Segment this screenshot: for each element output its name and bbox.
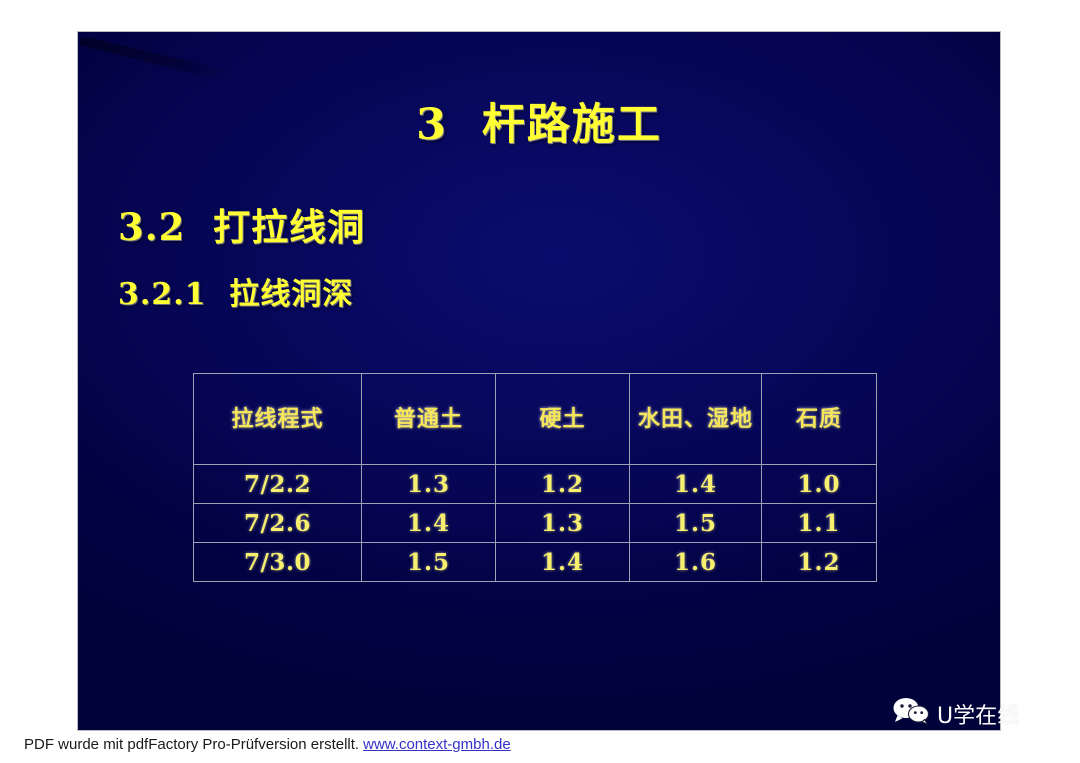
pdf-footer-text: PDF wurde mit pdfFactory Pro-Prüfversion… (24, 736, 359, 753)
table-cell: 1.4 (362, 504, 496, 543)
decorative-diagonal-streak (80, 38, 290, 92)
anchor-hole-depth-table: 拉线程式 普通土 硬土 水田、湿地 石质 7/2.2 1.3 1.2 1.4 1… (193, 373, 877, 582)
table-cell: 1.5 (362, 543, 496, 582)
table-header-cell: 石质 (762, 374, 877, 465)
slide-canvas: 3 杆路施工 3.2 打拉线洞 3.2.1 拉线洞深 拉线程式 普通土 硬土 水… (78, 32, 1000, 730)
table-cell: 1.2 (496, 465, 630, 504)
table-header-cell: 拉线程式 (194, 374, 362, 465)
table-header-cell: 硬土 (496, 374, 630, 465)
table-cell: 7/2.6 (194, 504, 362, 543)
table-header-row: 拉线程式 普通土 硬土 水田、湿地 石质 (194, 374, 877, 465)
table-header-cell: 普通土 (362, 374, 496, 465)
table-cell: 1.5 (630, 504, 762, 543)
table-cell: 7/3.0 (194, 543, 362, 582)
table-cell: 1.3 (496, 504, 630, 543)
table-header-cell: 水田、湿地 (630, 374, 762, 465)
page-title: 3 杆路施工 (78, 90, 1000, 152)
table-cell: 1.6 (630, 543, 762, 582)
table-cell: 1.1 (762, 504, 877, 543)
table-row: 7/3.0 1.5 1.4 1.6 1.2 (194, 543, 877, 582)
table-cell: 1.4 (496, 543, 630, 582)
pdf-footer-notice: PDF wurde mit pdfFactory Pro-Prüfversion… (24, 736, 511, 753)
table-row: 7/2.2 1.3 1.2 1.4 1.0 (194, 465, 877, 504)
table-cell: 7/2.2 (194, 465, 362, 504)
section-heading: 3.2 打拉线洞 (118, 197, 365, 251)
table-cell: 1.3 (362, 465, 496, 504)
table-cell: 1.2 (762, 543, 877, 582)
table-cell: 1.4 (630, 465, 762, 504)
table-cell: 1.0 (762, 465, 877, 504)
context-gmbh-link[interactable]: www.context-gmbh.de (363, 736, 511, 753)
subsection-heading: 3.2.1 拉线洞深 (118, 269, 353, 313)
table-row: 7/2.6 1.4 1.3 1.5 1.1 (194, 504, 877, 543)
